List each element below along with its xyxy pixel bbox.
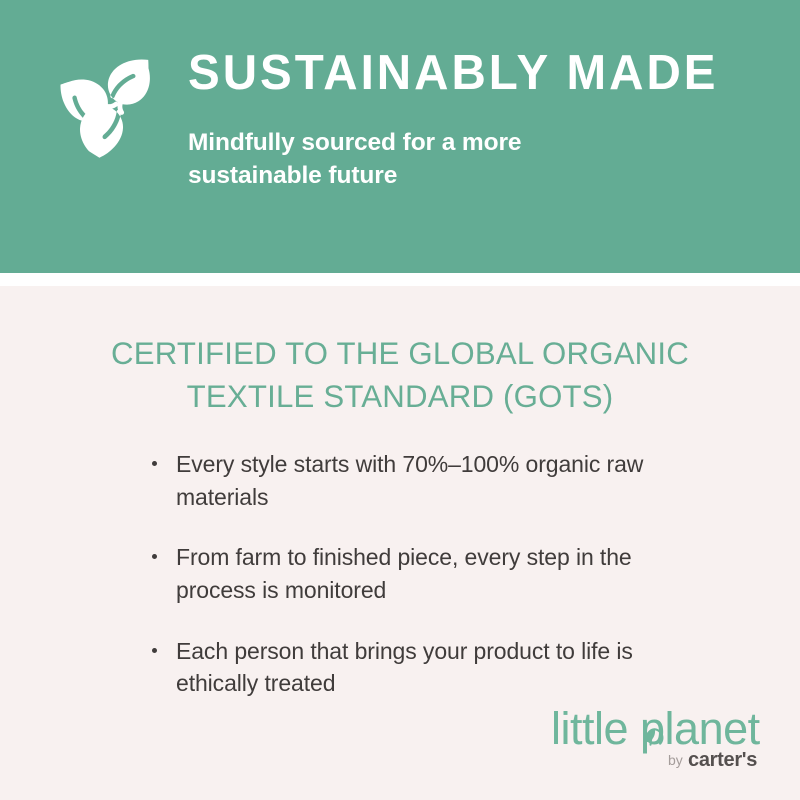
hero-content: SUSTAINABLY MADE Mindfully sourced for a… <box>52 46 760 192</box>
hero-banner: SUSTAINABLY MADE Mindfully sourced for a… <box>0 0 800 273</box>
list-item-label: From farm to finished piece, every step … <box>176 544 632 603</box>
sustainability-info-card: SUSTAINABLY MADE Mindfully sourced for a… <box>0 0 800 800</box>
list-item: Each person that brings your product to … <box>148 635 696 700</box>
hero-subtitle: Mindfully sourced for a more sustainable… <box>188 99 608 192</box>
certification-panel: CERTIFIED TO THE GLOBAL ORGANIC TEXTILE … <box>0 286 800 800</box>
bullet-dot-icon <box>152 648 157 653</box>
little-planet-logo: little planet by carter's <box>549 700 764 772</box>
logo-byline-brand: carter's <box>688 749 757 771</box>
section-divider <box>0 273 800 286</box>
bullet-dot-icon <box>152 554 157 559</box>
bullet-dot-icon <box>152 461 157 466</box>
certification-bullet-list: Every style starts with 70%–100% organic… <box>148 448 708 700</box>
list-item-label: Each person that brings your product to … <box>176 638 633 697</box>
hero-text-block: SUSTAINABLY MADE Mindfully sourced for a… <box>160 46 760 192</box>
list-item-label: Every style starts with 70%–100% organic… <box>176 451 643 510</box>
list-item: From farm to finished piece, every step … <box>148 541 696 606</box>
three-leaves-recycle-icon <box>52 50 160 162</box>
page-title: SUSTAINABLY MADE <box>188 48 743 99</box>
list-item: Every style starts with 70%–100% organic… <box>148 448 696 513</box>
certification-heading: CERTIFIED TO THE GLOBAL ORGANIC TEXTILE … <box>63 332 736 418</box>
logo-byline-prefix: by <box>668 752 683 768</box>
